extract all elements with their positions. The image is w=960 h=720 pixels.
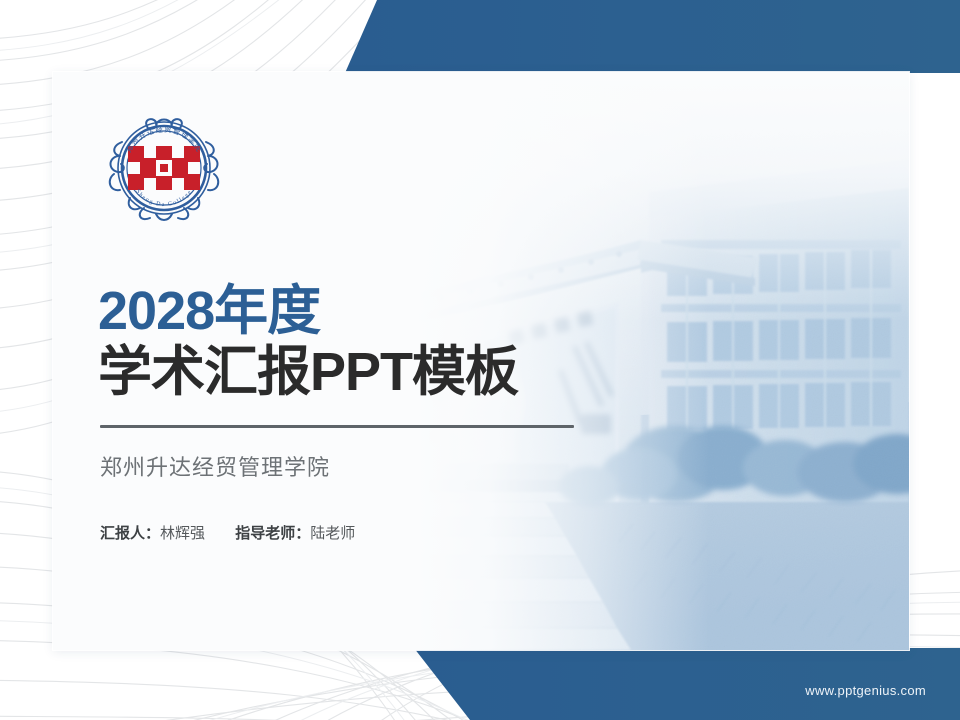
content-card: 郑州升达经贸管理学院 Sheng Da College 2028年度 学术汇报P…	[53, 72, 909, 650]
footer-website-url[interactable]: www.pptgenius.com	[805, 683, 926, 698]
reporter-label: 汇报人	[100, 525, 145, 542]
advisor-separator: ：	[295, 525, 310, 542]
main-title: 学术汇报PPT模板	[98, 344, 574, 401]
school-name: 郑州升达经贸管理学院	[100, 450, 574, 482]
slide-canvas: 郑州升达经贸管理学院 Sheng Da College 2028年度 学术汇报P…	[0, 0, 960, 720]
title-divider	[100, 425, 574, 428]
advisor-name: 陆老师	[310, 525, 355, 542]
title-text-block: 2028年度 学术汇报PPT模板 郑州升达经贸管理学院 汇报人：林辉强 指导老师…	[98, 284, 574, 543]
presenter-line: 汇报人：林辉强 指导老师：陆老师	[100, 522, 574, 543]
reporter-separator: ：	[145, 525, 160, 542]
reporter-name: 林辉强	[160, 525, 205, 542]
advisor-label: 指导老师	[235, 525, 295, 542]
university-logo: 郑州升达经贸管理学院 Sheng Da College	[100, 112, 228, 224]
year-heading: 2028年度	[98, 284, 574, 338]
